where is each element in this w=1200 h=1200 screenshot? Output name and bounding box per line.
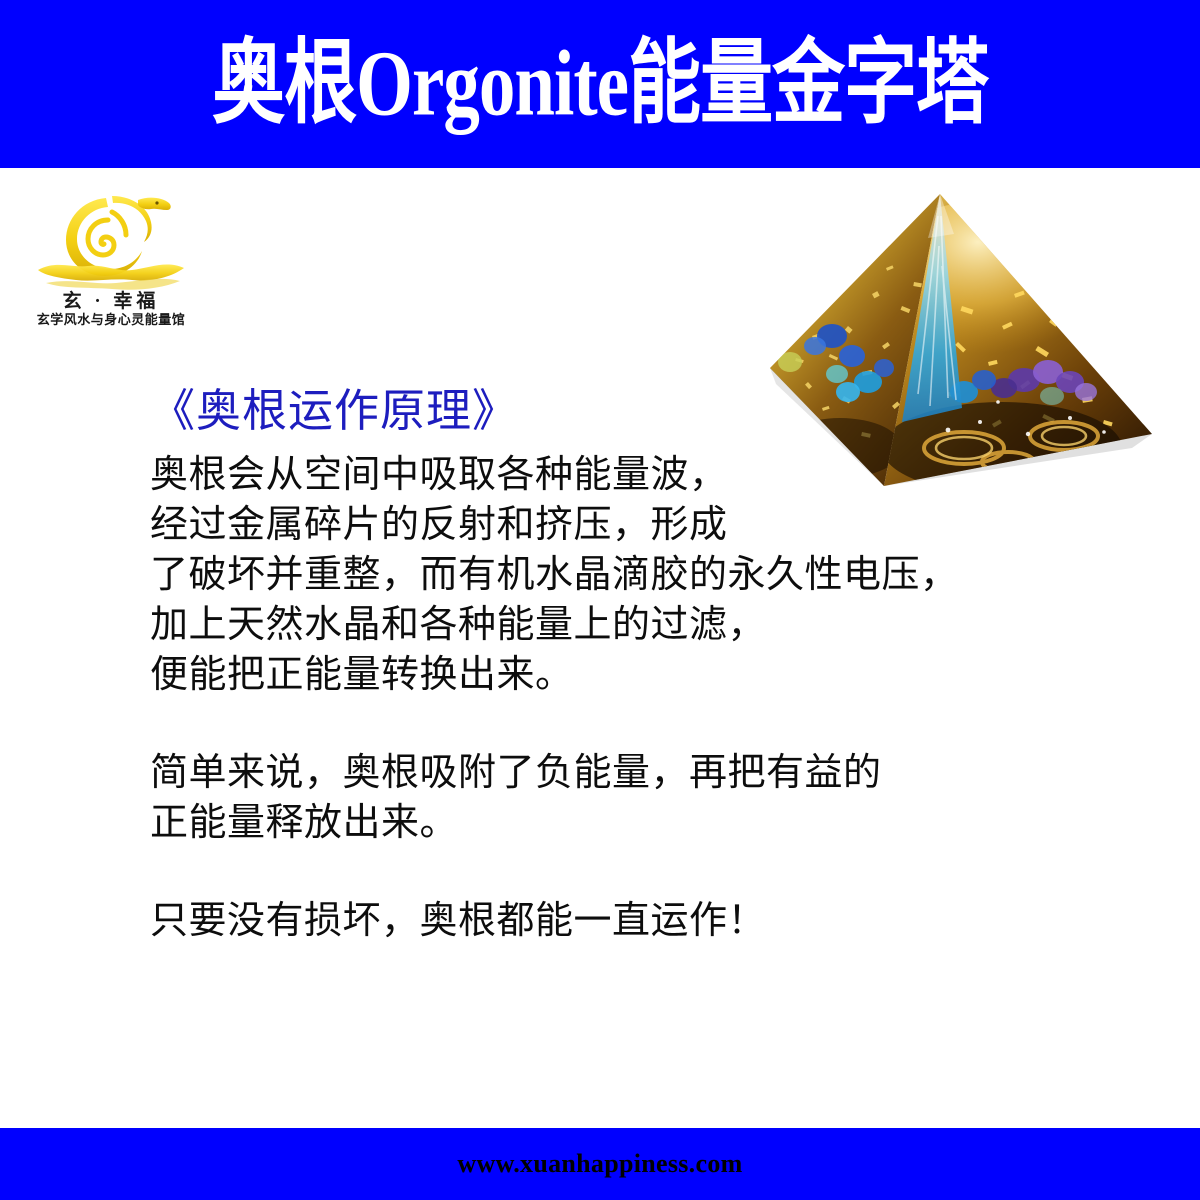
paragraph-block-3: 只要没有损坏，奥根都能一直运作！ <box>150 896 1110 946</box>
paragraph-line: 加上天然水晶和各种能量上的过滤， <box>150 600 1110 650</box>
paragraph-line: 正能量释放出来。 <box>150 798 1110 848</box>
paragraph-line: 便能把正能量转换出来。 <box>150 650 1110 700</box>
poster-canvas: 奥根Orgonite能量金字塔 玄 · 幸福 <box>0 0 1200 1200</box>
paragraph-line: 只要没有损坏，奥根都能一直运作！ <box>150 896 1110 946</box>
page-title: 奥根Orgonite能量金字塔 <box>212 38 988 131</box>
paragraph-line: 了破坏并重整，而有机水晶滴胶的永久性电压， <box>150 550 1110 600</box>
logo-tagline: 玄学风水与身心灵能量馆 <box>20 313 202 327</box>
main-content: 《奥根运作原理》 奥根会从空间中吸取各种能量波， 经过金属碎片的反射和挤压，形成… <box>150 386 1110 946</box>
paragraph-block-2: 简单来说，奥根吸附了负能量，再把有益的 正能量释放出来。 <box>150 748 1110 848</box>
paragraph-line: 经过金属碎片的反射和挤压，形成 <box>150 500 1110 550</box>
bottom-banner: www.xuanhappiness.com <box>0 1128 1200 1200</box>
paragraph-block-1: 奥根会从空间中吸取各种能量波， 经过金属碎片的反射和挤压，形成 了破坏并重整，而… <box>150 450 1110 700</box>
logo-brand-name: 玄 · 幸福 <box>20 292 202 312</box>
paragraph-line: 简单来说，奥根吸附了负能量，再把有益的 <box>150 748 1110 798</box>
paragraph-line: 奥根会从空间中吸取各种能量波， <box>150 450 1110 500</box>
section-heading: 《奥根运作原理》 <box>150 386 1110 438</box>
golden-dragon-icon <box>20 186 202 294</box>
website-url[interactable]: www.xuanhappiness.com <box>457 1149 742 1179</box>
top-banner: 奥根Orgonite能量金字塔 <box>0 0 1200 168</box>
brand-logo: 玄 · 幸福 玄学风水与身心灵能量馆 <box>20 186 202 336</box>
